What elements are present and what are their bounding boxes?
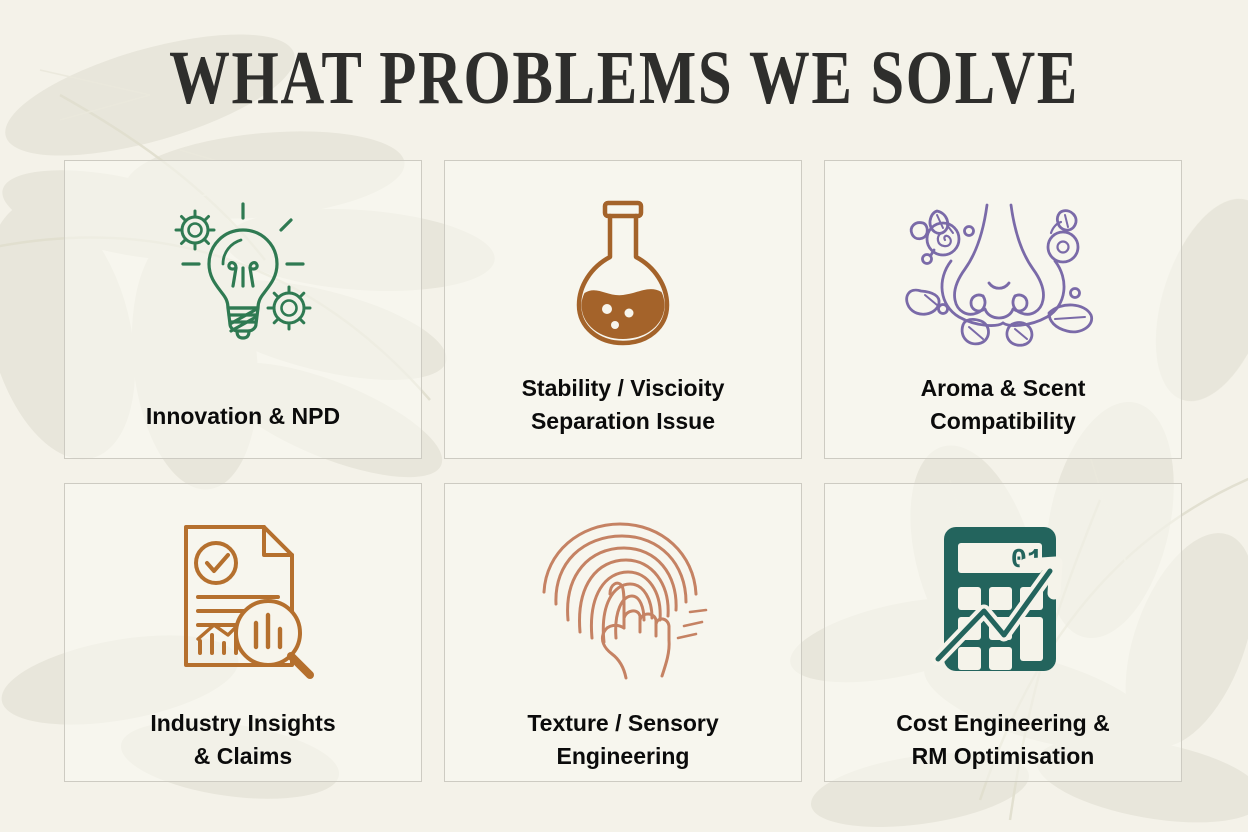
slide-canvas: WHAT PROBLEMS WE SOLVE [0, 0, 1248, 832]
document-chart-magnifier-icon [65, 516, 421, 681]
card-label: Innovation & NPD [65, 400, 421, 433]
problems-grid: Innovation & NPD Stability / Viscioi [64, 160, 1182, 782]
card-stability-viscosity[interactable]: Stability / Viscioity Separation Issue [444, 160, 802, 459]
fingerprint-touch-icon [445, 516, 801, 681]
lightbulb-gears-icon [65, 195, 421, 350]
card-label: Aroma & Scent Compatibility [825, 372, 1181, 438]
card-label: Texture / Sensory Engineering [445, 707, 801, 773]
card-label: Stability / Viscioity Separation Issue [445, 372, 801, 438]
card-label: Cost Engineering & RM Optimisation [825, 707, 1181, 773]
card-texture-sensory[interactable]: Texture / Sensory Engineering [444, 483, 802, 782]
page-title: WHAT PROBLEMS WE SOLVE [125, 40, 1123, 116]
nose-botanical-icon [825, 195, 1181, 350]
card-aroma-scent[interactable]: Aroma & Scent Compatibility [824, 160, 1182, 459]
card-cost-engineering[interactable]: 01 [824, 483, 1182, 782]
card-innovation-npd[interactable]: Innovation & NPD [64, 160, 422, 459]
flask-liquid-icon [445, 195, 801, 350]
calculator-growth-arrow-icon: 01 [825, 516, 1181, 681]
card-label: Industry Insights & Claims [65, 707, 421, 773]
card-industry-insights[interactable]: Industry Insights & Claims [64, 483, 422, 782]
